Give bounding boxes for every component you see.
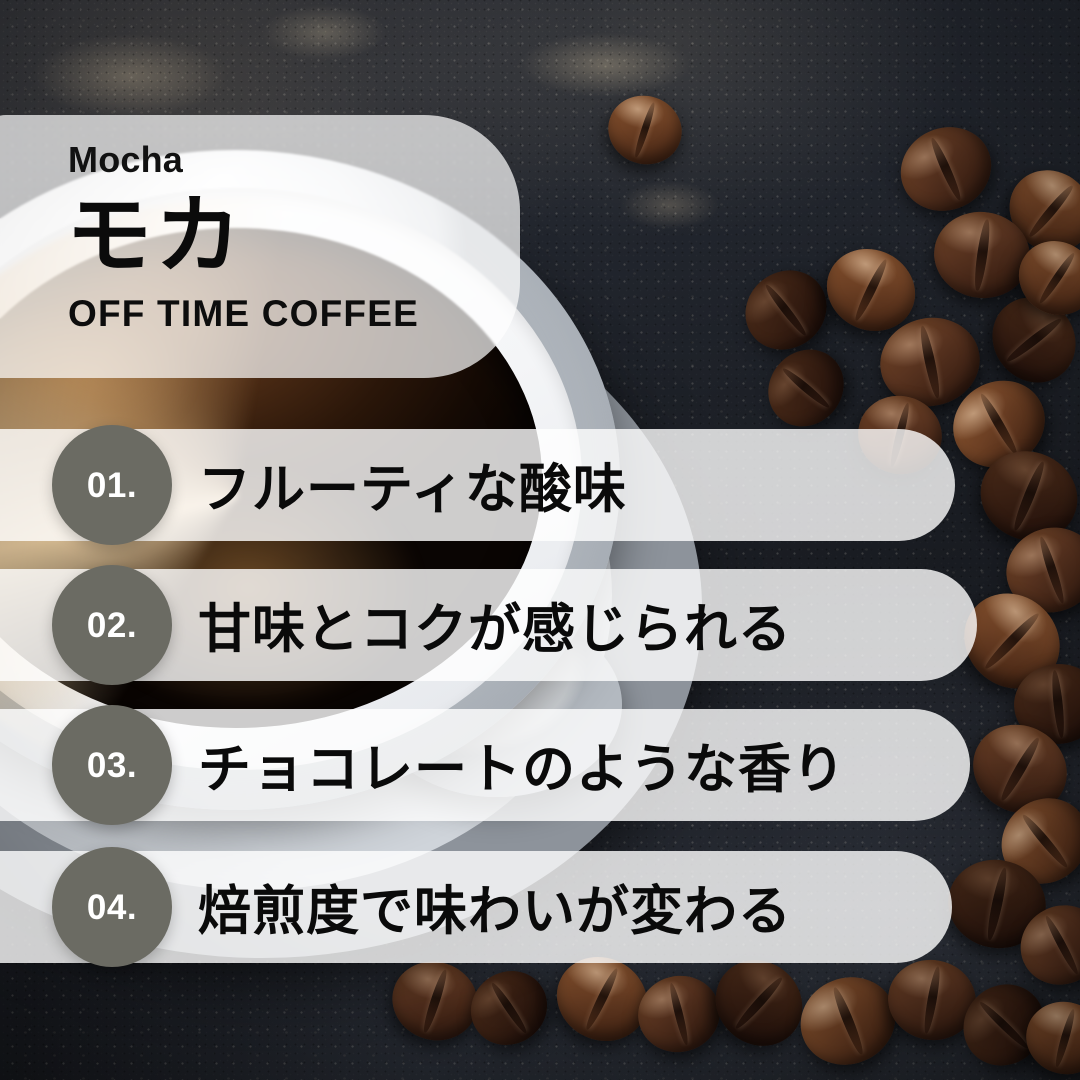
feature-label: チョコレートのような香り <box>198 709 846 821</box>
feature-label: 焙煎度で味わいが変わる <box>198 851 792 963</box>
feature-number-badge: 04. <box>52 847 172 967</box>
feature-number-badge: 01. <box>52 425 172 545</box>
feature-number: 04. <box>87 890 137 925</box>
feature-number-badge: 03. <box>52 705 172 825</box>
feature-label: 甘味とコクが感じられる <box>198 569 792 681</box>
feature-number: 02. <box>87 608 137 643</box>
feature-number-badge: 02. <box>52 565 172 685</box>
feature-number: 03. <box>87 748 137 783</box>
feature-label: フルーティな酸味 <box>198 429 627 541</box>
feature-number: 01. <box>87 468 137 503</box>
feature-list: フルーティな酸味 01. 甘味とコクが感じられる 02. チョコレートのような香… <box>0 0 1080 1080</box>
coffee-menu-poster: Mocha モカ OFF TIME COFFEE フルーティな酸味 01. 甘味… <box>0 0 1080 1080</box>
